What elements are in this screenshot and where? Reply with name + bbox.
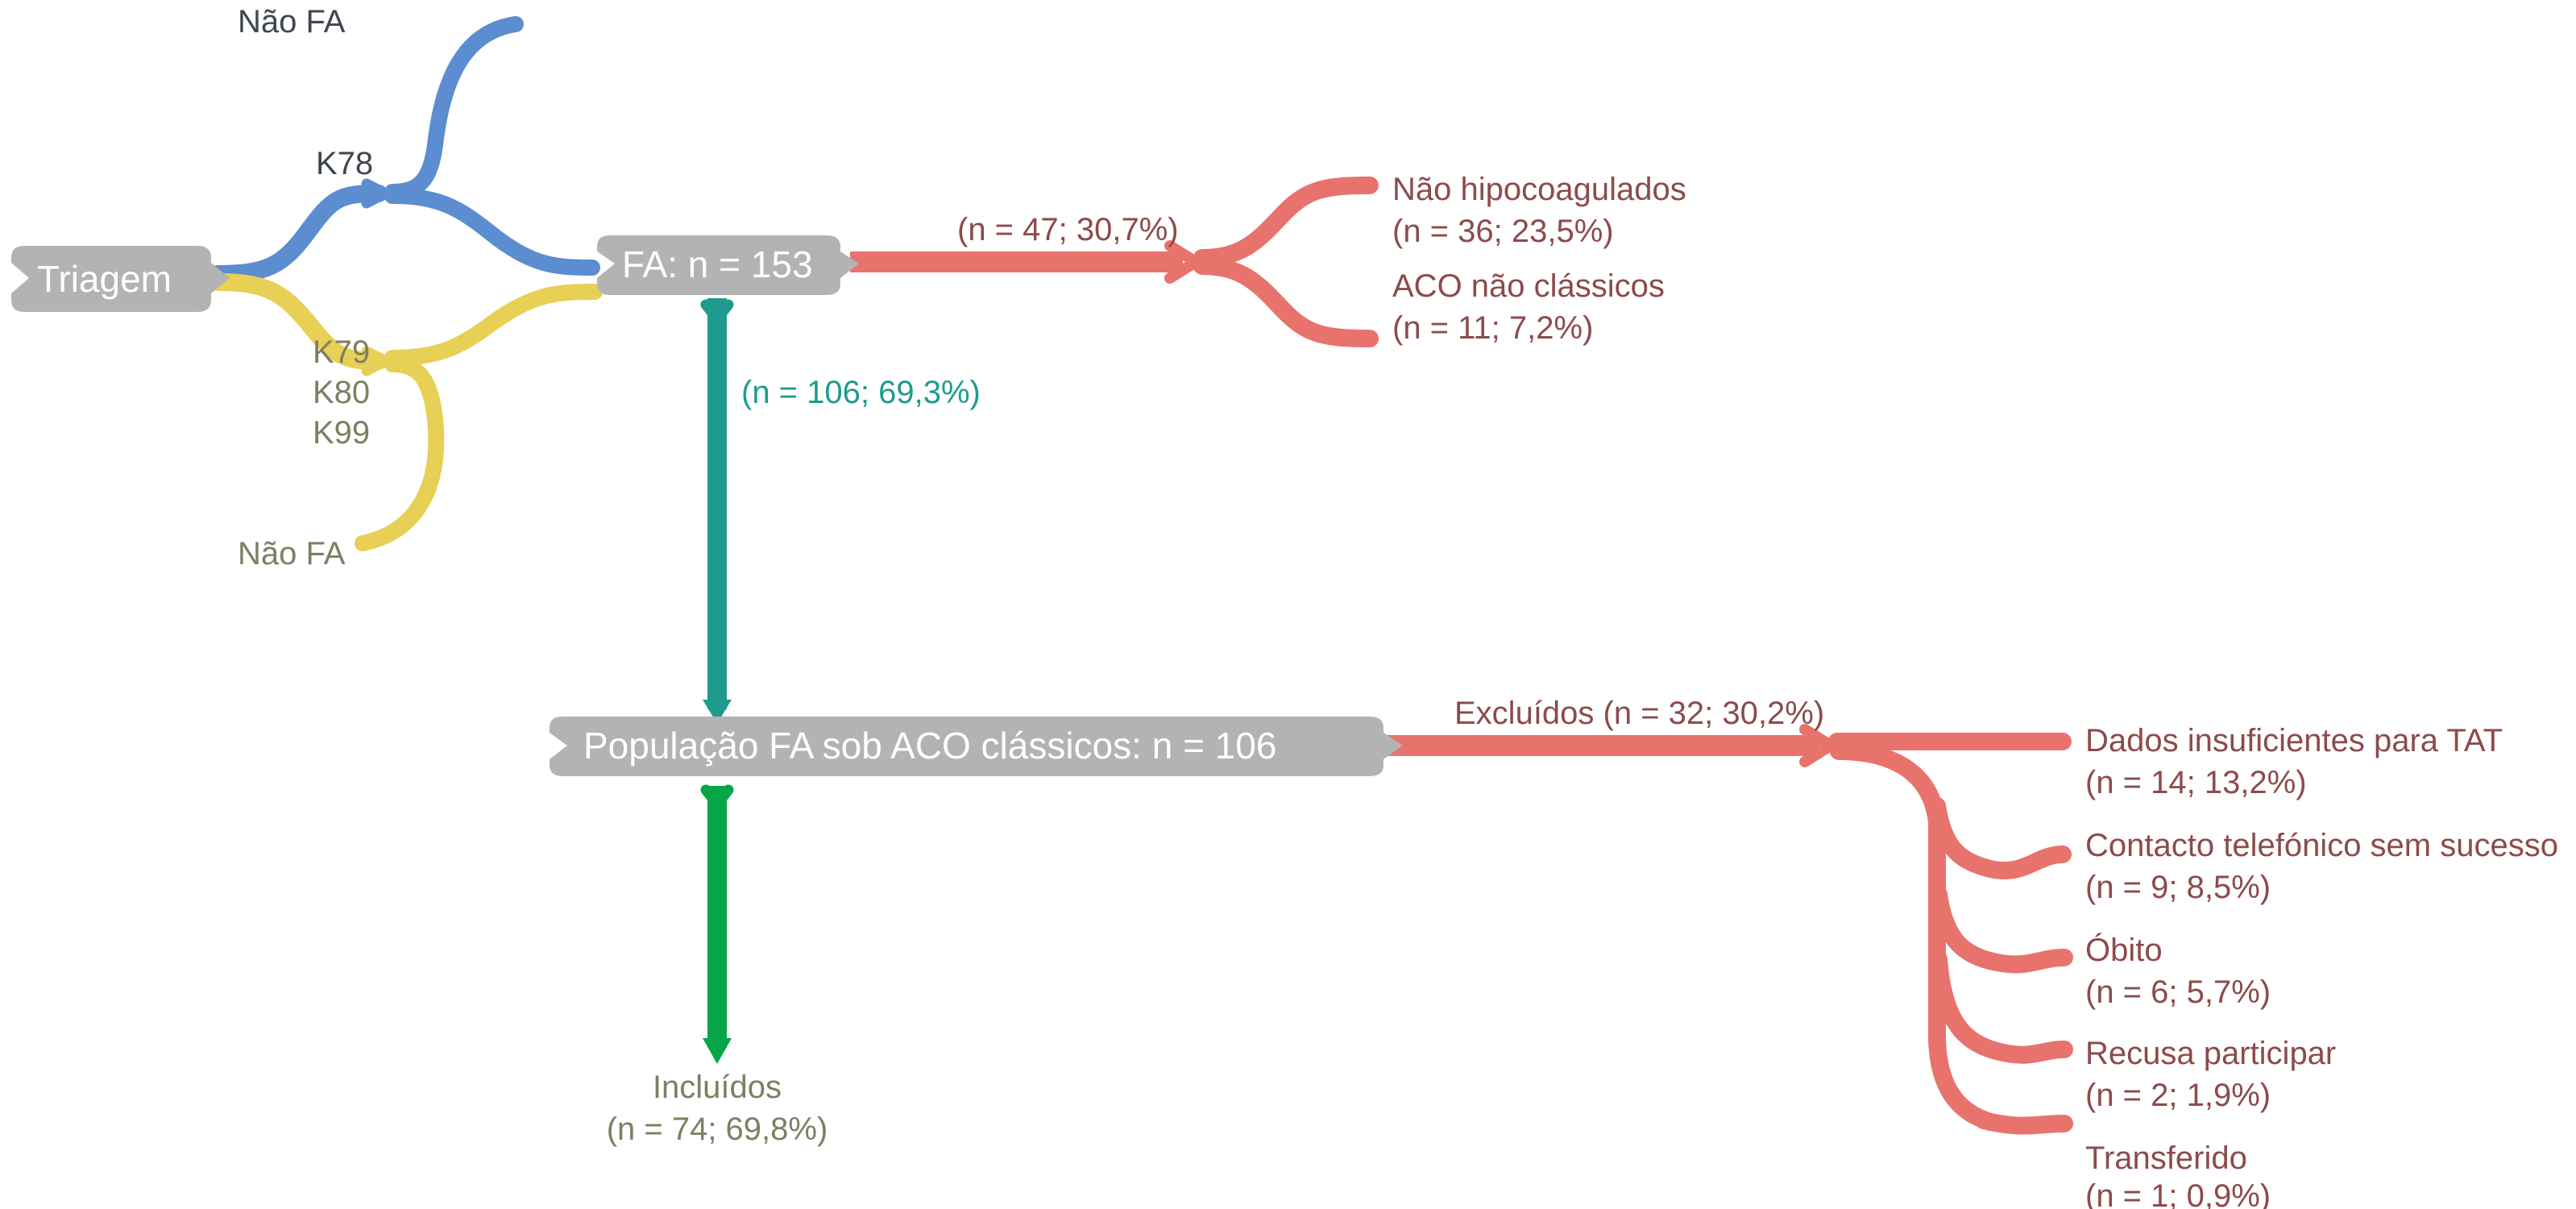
exclusion-reason-item: Recusa participar (n = 2; 1,9%) (2085, 1036, 2336, 1113)
fa-outcome-item: ACO não clássicos (n = 11; 7,2%) (1392, 268, 1665, 346)
exclusion-reason-stats: (n = 1; 0,9%) (2085, 1178, 2271, 1209)
blue-stem-triage-to-k78 (218, 193, 379, 274)
label-fa-included-trunk: (n = 106; 69,3%) (741, 375, 981, 410)
fa-outcome-item: Não hipocoagulados (n = 36; 23,5%) (1392, 172, 1686, 249)
node-populacao-label: População FA sob ACO clássicos: n = 106 (583, 725, 1276, 767)
label-k78: K78 (316, 146, 373, 181)
red-sub-aco-nao-classicos (1202, 266, 1370, 339)
node-fa[interactable]: FA: n = 153 (597, 235, 859, 295)
red-sub-obito (1939, 895, 2064, 964)
red-sub-recusa-participar (1939, 959, 2064, 1055)
node-populacao[interactable]: População FA sob ACO clássicos: n = 106 (550, 717, 1403, 776)
label-fa-excluded-trunk: (n = 47; 30,7%) (957, 212, 1179, 247)
yellow-branch-group (218, 282, 595, 543)
red-vertical-distributor (1839, 751, 1990, 1122)
node-triagem-label: Triagem (37, 258, 172, 300)
label-population-excluded-trunk: Excluídos (n = 32; 30,2%) (1454, 696, 1824, 731)
red-sub-contacto-telefonico (1937, 806, 2063, 870)
population-excluded-branch-group (1386, 729, 2064, 1126)
exclusion-reason-item: Óbito (n = 6; 5,7%) (2085, 932, 2271, 1010)
exclusion-reason-stats: (n = 14; 13,2%) (2085, 765, 2307, 800)
label-k79: K79 (313, 334, 370, 370)
label-nao-fa-top: Não FA (238, 4, 346, 39)
included-title: Incluídos (653, 1070, 782, 1105)
fa-outcome-title: ACO não clássicos (1392, 268, 1665, 304)
included-label-group: Incluídos (n = 74; 69,8%) (607, 1070, 828, 1147)
red-sub-nao-hipocoagulados (1202, 185, 1370, 258)
exclusion-reason-title: Dados insuficientes para TAT (2085, 723, 2503, 758)
fa-excluded-branch-group (850, 185, 1370, 339)
exclusion-reason-item: Transferido (n = 1; 0,9%) (2085, 1140, 2271, 1209)
green-arrowhead (703, 1038, 732, 1064)
blue-sub-to-fa (392, 196, 592, 268)
yellow-sub-to-fa (392, 292, 595, 358)
label-k80: K80 (313, 375, 370, 410)
exclusion-reason-item: Contacto telefónico sem sucesso (n = 9; … (2085, 828, 2558, 905)
flowchart-canvas: Triagem FA: n = 153 População FA sob ACO… (0, 0, 2576, 1209)
node-triagem[interactable]: Triagem (11, 246, 230, 312)
exclusion-reason-stats: (n = 9; 8,5%) (2085, 870, 2271, 905)
included-branch-group (703, 786, 732, 1064)
exclusion-reason-title: Óbito (2085, 932, 2163, 968)
exclusion-reason-stats: (n = 2; 1,9%) (2085, 1078, 2271, 1113)
node-fa-label: FA: n = 153 (622, 243, 813, 285)
flowchart-svg: Triagem FA: n = 153 População FA sob ACO… (0, 0, 2576, 1209)
red-sub-transferido (1984, 1120, 2064, 1126)
fa-outcome-title: Não hipocoagulados (1392, 172, 1686, 207)
fa-included-branch-group (703, 298, 732, 724)
yellow-sub-nao-fa (363, 364, 436, 543)
label-k99: K99 (313, 415, 370, 451)
included-stats: (n = 74; 69,8%) (607, 1111, 828, 1147)
fa-outcome-stats: (n = 36; 23,5%) (1392, 214, 1614, 249)
blue-branch-group (218, 24, 592, 274)
blue-sub-nao-fa (392, 24, 516, 192)
label-nao-fa-bottom: Não FA (238, 536, 346, 571)
exclusion-reason-title: Contacto telefónico sem sucesso (2085, 828, 2558, 863)
exclusion-reason-title: Recusa participar (2085, 1036, 2336, 1071)
exclusion-reason-item: Dados insuficientes para TAT (n = 14; 13… (2085, 723, 2503, 800)
exclusion-reason-title: Transferido (2085, 1140, 2247, 1176)
fa-outcome-stats: (n = 11; 7,2%) (1392, 310, 1593, 346)
exclusion-reason-stats: (n = 6; 5,7%) (2085, 974, 2271, 1010)
